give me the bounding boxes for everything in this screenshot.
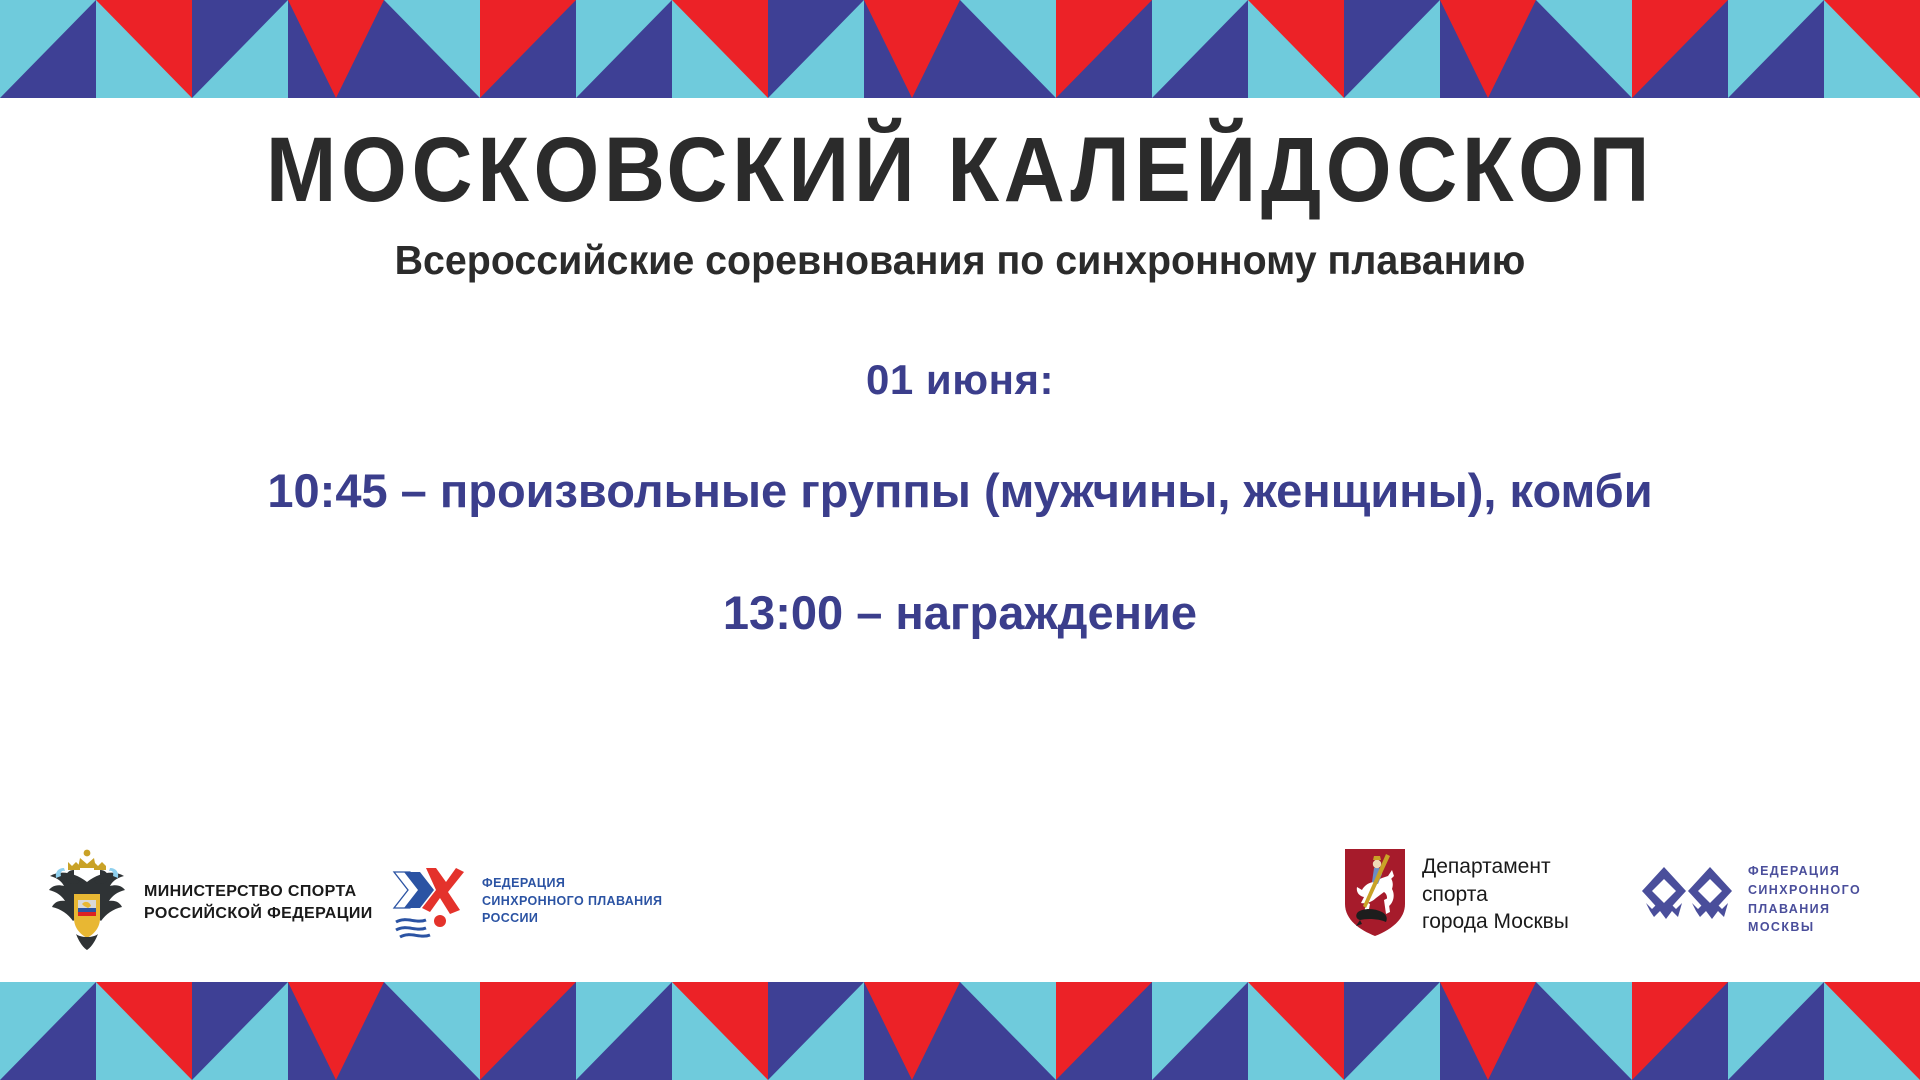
- page-title: МОСКОВСКИЙ КАЛЕЙДОСКОП: [77, 98, 1843, 216]
- logo-line: МИНИСТЕРСТВО СПОРТА: [144, 881, 373, 903]
- logo-line: СИНХРОННОГО ПЛАВАНИЯ: [482, 893, 662, 911]
- russian-double-eagle-emblem-icon: [44, 848, 130, 957]
- logo-line: ФЕДЕРАЦИЯ: [482, 875, 662, 893]
- date-label: 01 июня:: [0, 281, 1920, 401]
- moscow-coat-of-arms-st-george-icon: [1342, 846, 1408, 943]
- logo-line: СИНХРОННОГО: [1748, 881, 1861, 900]
- logo-line: МОСКВЫ: [1748, 918, 1861, 937]
- logo-moscow-sport-department-label: Департамент спорта города Москвы: [1422, 853, 1569, 937]
- sponsor-logo-strip: МИНИСТЕРСТВО СПОРТА РОССИЙСКОЙ ФЕДЕРАЦИИ: [0, 828, 1920, 978]
- moscow-synchro-swimming-federation-emblem-icon: [1640, 865, 1734, 934]
- logo-ministry-of-sport: МИНИСТЕРСТВО СПОРТА РОССИЙСКОЙ ФЕДЕРАЦИИ: [44, 848, 373, 957]
- logo-ministry-of-sport-label: МИНИСТЕРСТВО СПОРТА РОССИЙСКОЙ ФЕДЕРАЦИИ: [144, 881, 373, 924]
- logo-russia-synchro-federation-label: ФЕДЕРАЦИЯ СИНХРОННОГО ПЛАВАНИЯ РОССИИ: [482, 875, 662, 928]
- logo-moscow-synchro-federation: ФЕДЕРАЦИЯ СИНХРОННОГО ПЛАВАНИЯ МОСКВЫ: [1640, 862, 1861, 937]
- logo-russia-synchro-federation: ФЕДЕРАЦИЯ СИНХРОННОГО ПЛАВАНИЯ РОССИИ: [390, 858, 662, 945]
- logo-line: Департамент: [1422, 853, 1569, 881]
- page-subtitle: Всероссийские соревнования по синхронном…: [38, 216, 1881, 281]
- logo-line: спорта: [1422, 881, 1569, 909]
- poster-content: МОСКОВСКИЙ КАЛЕЙДОСКОП Всероссийские сор…: [0, 98, 1920, 982]
- logo-line: города Москвы: [1422, 908, 1569, 936]
- logo-line: РОССИЙСКОЙ ФЕДЕРАЦИИ: [144, 903, 373, 925]
- bottom-pattern-band: [0, 982, 1920, 1080]
- schedule-item-2: 13:00 – награждение: [60, 521, 1860, 643]
- bottom-pattern-svg: [0, 982, 1920, 1080]
- logo-line: РОССИИ: [482, 910, 662, 928]
- logo-line: ФЕДЕРАЦИЯ: [1748, 862, 1861, 881]
- logo-line: ПЛАВАНИЯ: [1748, 900, 1861, 919]
- logo-moscow-sport-department: Департамент спорта города Москвы: [1342, 846, 1569, 943]
- top-pattern-band: [0, 0, 1920, 98]
- russia-synchro-swimming-federation-emblem-icon: [390, 858, 468, 945]
- schedule-item-1: 10:45 – произвольные группы (мужчины, же…: [60, 401, 1860, 521]
- top-pattern-svg: [0, 0, 1920, 98]
- logo-moscow-synchro-federation-label: ФЕДЕРАЦИЯ СИНХРОННОГО ПЛАВАНИЯ МОСКВЫ: [1748, 862, 1861, 937]
